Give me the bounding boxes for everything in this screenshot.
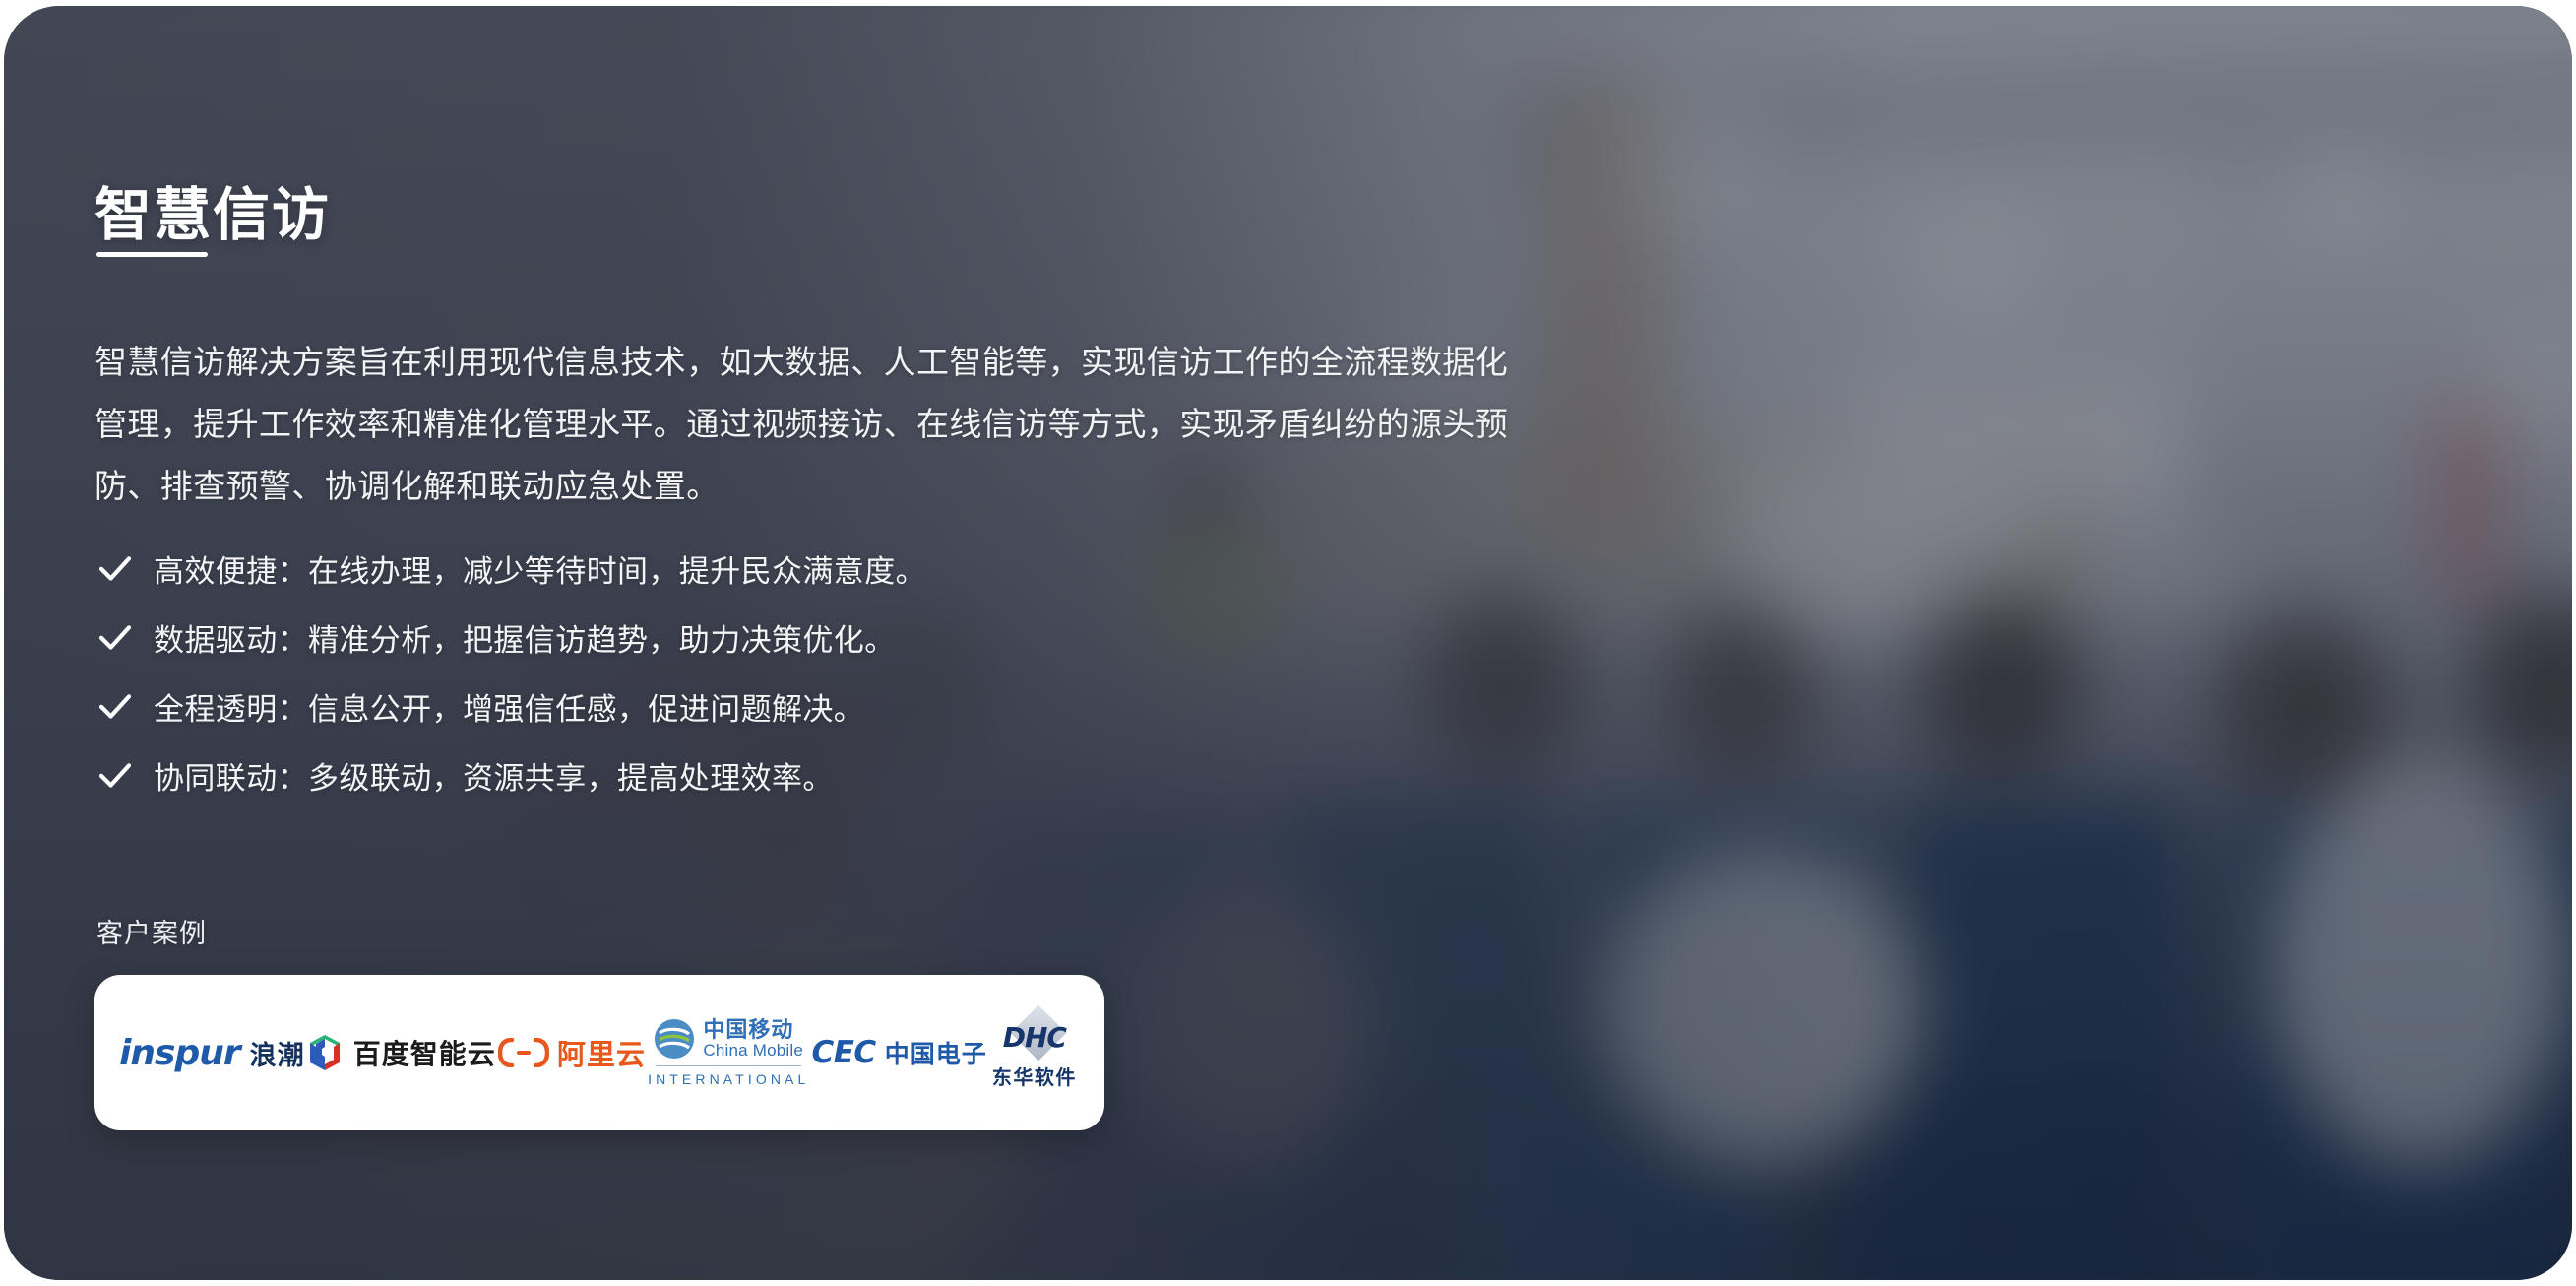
- dhc-wordmark: DHC: [989, 1021, 1080, 1054]
- china-mobile-lockup: 中国移动 China Mobile: [654, 1018, 803, 1060]
- baidu-cube-icon: [307, 1033, 343, 1072]
- feature-label: 协同联动：多级联动，资源共享，提高处理效率。: [154, 753, 834, 798]
- feature-item: 全程透明：信息公开，增强信任感，促进问题解决。: [94, 672, 926, 740]
- logo-china-mobile-international[interactable]: 中国移动 China Mobile INTERNATIONAL: [648, 1018, 809, 1087]
- feature-item: 高效便捷：在线办理，减少等待时间，提升民众满意度。: [94, 534, 926, 603]
- hero-description: 智慧信访解决方案旨在利用现代信息技术，如大数据、人工智能等，实现信访工作的全流程…: [94, 331, 1510, 517]
- hero-banner: 智慧信访 智慧信访解决方案旨在利用现代信息技术，如大数据、人工智能等，实现信访工…: [4, 6, 2572, 1280]
- baidu-chinese-name: 百度智能云: [353, 1033, 496, 1072]
- feature-label: 数据驱动：精准分析，把握信访趋势，助力决策优化。: [154, 615, 896, 660]
- china-mobile-wave-icon: [654, 1018, 695, 1060]
- logo-cec[interactable]: CEC 中国电子: [812, 1035, 987, 1070]
- check-icon: [94, 685, 136, 727]
- feature-label: 高效便捷：在线办理，减少等待时间，提升民众满意度。: [154, 547, 926, 591]
- title-divider: [96, 252, 208, 257]
- check-icon: [94, 616, 136, 658]
- logo-baidu-ai-cloud[interactable]: 百度智能云: [307, 1033, 496, 1072]
- feature-list: 高效便捷：在线办理，减少等待时间，提升民众满意度。 数据驱动：精准分析，把握信访…: [94, 534, 926, 809]
- aliyun-bracket-icon: [498, 1038, 549, 1067]
- logo-aliyun[interactable]: 阿里云: [498, 1032, 646, 1073]
- inspur-wordmark: inspur: [119, 1033, 240, 1073]
- check-icon: [94, 754, 136, 796]
- china-mobile-chinese-name: 中国移动: [703, 1018, 803, 1042]
- aliyun-chinese-name: 阿里云: [557, 1032, 646, 1073]
- china-mobile-english-name: China Mobile: [703, 1042, 803, 1060]
- check-icon: [94, 547, 136, 589]
- china-mobile-international-label: INTERNATIONAL: [648, 1071, 809, 1087]
- customer-logo-card: inspur 浪潮 百度智能云 阿里云: [94, 975, 1104, 1130]
- logo-dhc[interactable]: DHC 东华软件: [989, 1015, 1080, 1090]
- feature-item: 协同联动：多级联动，资源共享，提高处理效率。: [94, 740, 926, 809]
- cec-wordmark: CEC: [812, 1035, 876, 1070]
- dhc-lockup: DHC: [989, 1015, 1080, 1059]
- logo-inspur[interactable]: inspur 浪潮: [119, 1033, 305, 1073]
- customer-cases-label: 客户案例: [96, 912, 207, 950]
- feature-label: 全程透明：信息公开，增强信任感，促进问题解决。: [154, 684, 864, 729]
- china-mobile-divider: [656, 1065, 801, 1066]
- inspur-chinese-name: 浪潮: [250, 1034, 305, 1072]
- china-mobile-text: 中国移动 China Mobile: [703, 1018, 803, 1060]
- cec-chinese-name: 中国电子: [885, 1035, 987, 1070]
- feature-item: 数据驱动：精准分析，把握信访趋势，助力决策优化。: [94, 603, 926, 672]
- page-title: 智慧信访: [94, 187, 331, 244]
- dhc-chinese-name: 东华软件: [992, 1061, 1077, 1090]
